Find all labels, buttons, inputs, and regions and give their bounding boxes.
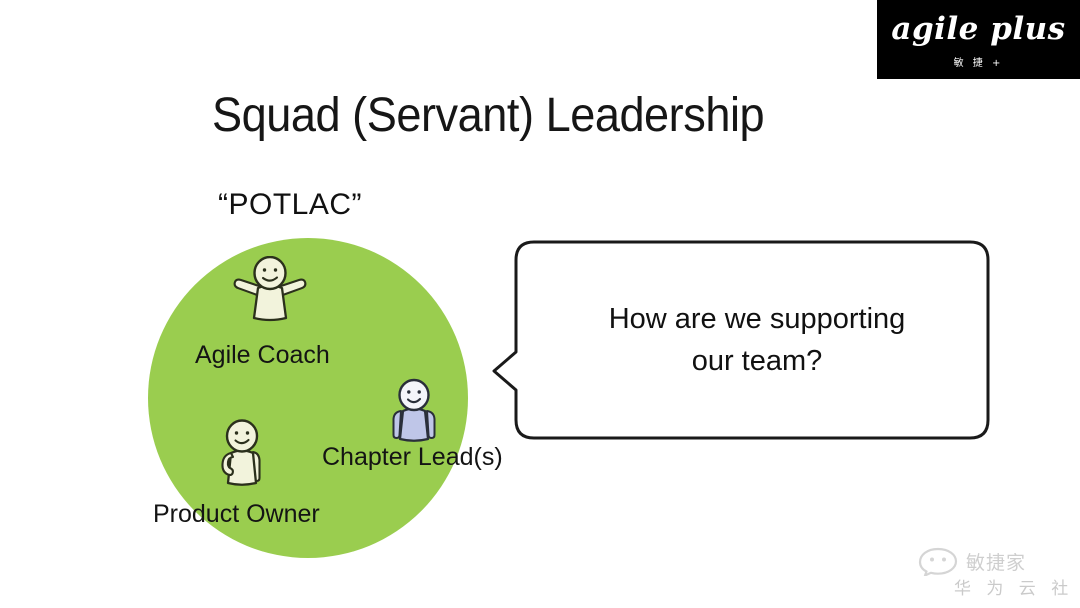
callout-text: How are we supporting our team? bbox=[552, 298, 962, 382]
callout-line-1: How are we supporting bbox=[552, 298, 962, 340]
agile-plus-logo: agile plus 敏 捷 + bbox=[877, 0, 1080, 79]
person-chapter-lead-icon bbox=[387, 378, 441, 442]
watermark-community-name: 华 为 云 社 区 bbox=[954, 574, 1080, 599]
logo-chinese-subtitle: 敏 捷 + bbox=[954, 54, 1004, 69]
question-callout: How are we supporting our team? bbox=[492, 240, 992, 440]
label-chapter-lead: Chapter Lead(s) bbox=[322, 443, 503, 472]
person-agile-coach-icon bbox=[232, 256, 308, 322]
callout-line-2: our team? bbox=[552, 340, 962, 382]
subtitle-potlac: “POTLAC” bbox=[218, 188, 362, 222]
page-title: Squad (Servant) Leadership bbox=[212, 88, 764, 143]
watermark-brand-name: 敏捷家 bbox=[966, 548, 1026, 575]
logo-wordmark: agile plus bbox=[891, 14, 1065, 45]
label-agile-coach: Agile Coach bbox=[195, 341, 330, 370]
label-product-owner: Product Owner bbox=[153, 500, 320, 529]
watermark: 敏捷家 华 为 云 社 区 bbox=[922, 548, 1080, 606]
slide-canvas: agile plus 敏 捷 + Squad (Servant) Leaders… bbox=[0, 0, 1080, 608]
person-product-owner-icon bbox=[213, 418, 271, 486]
